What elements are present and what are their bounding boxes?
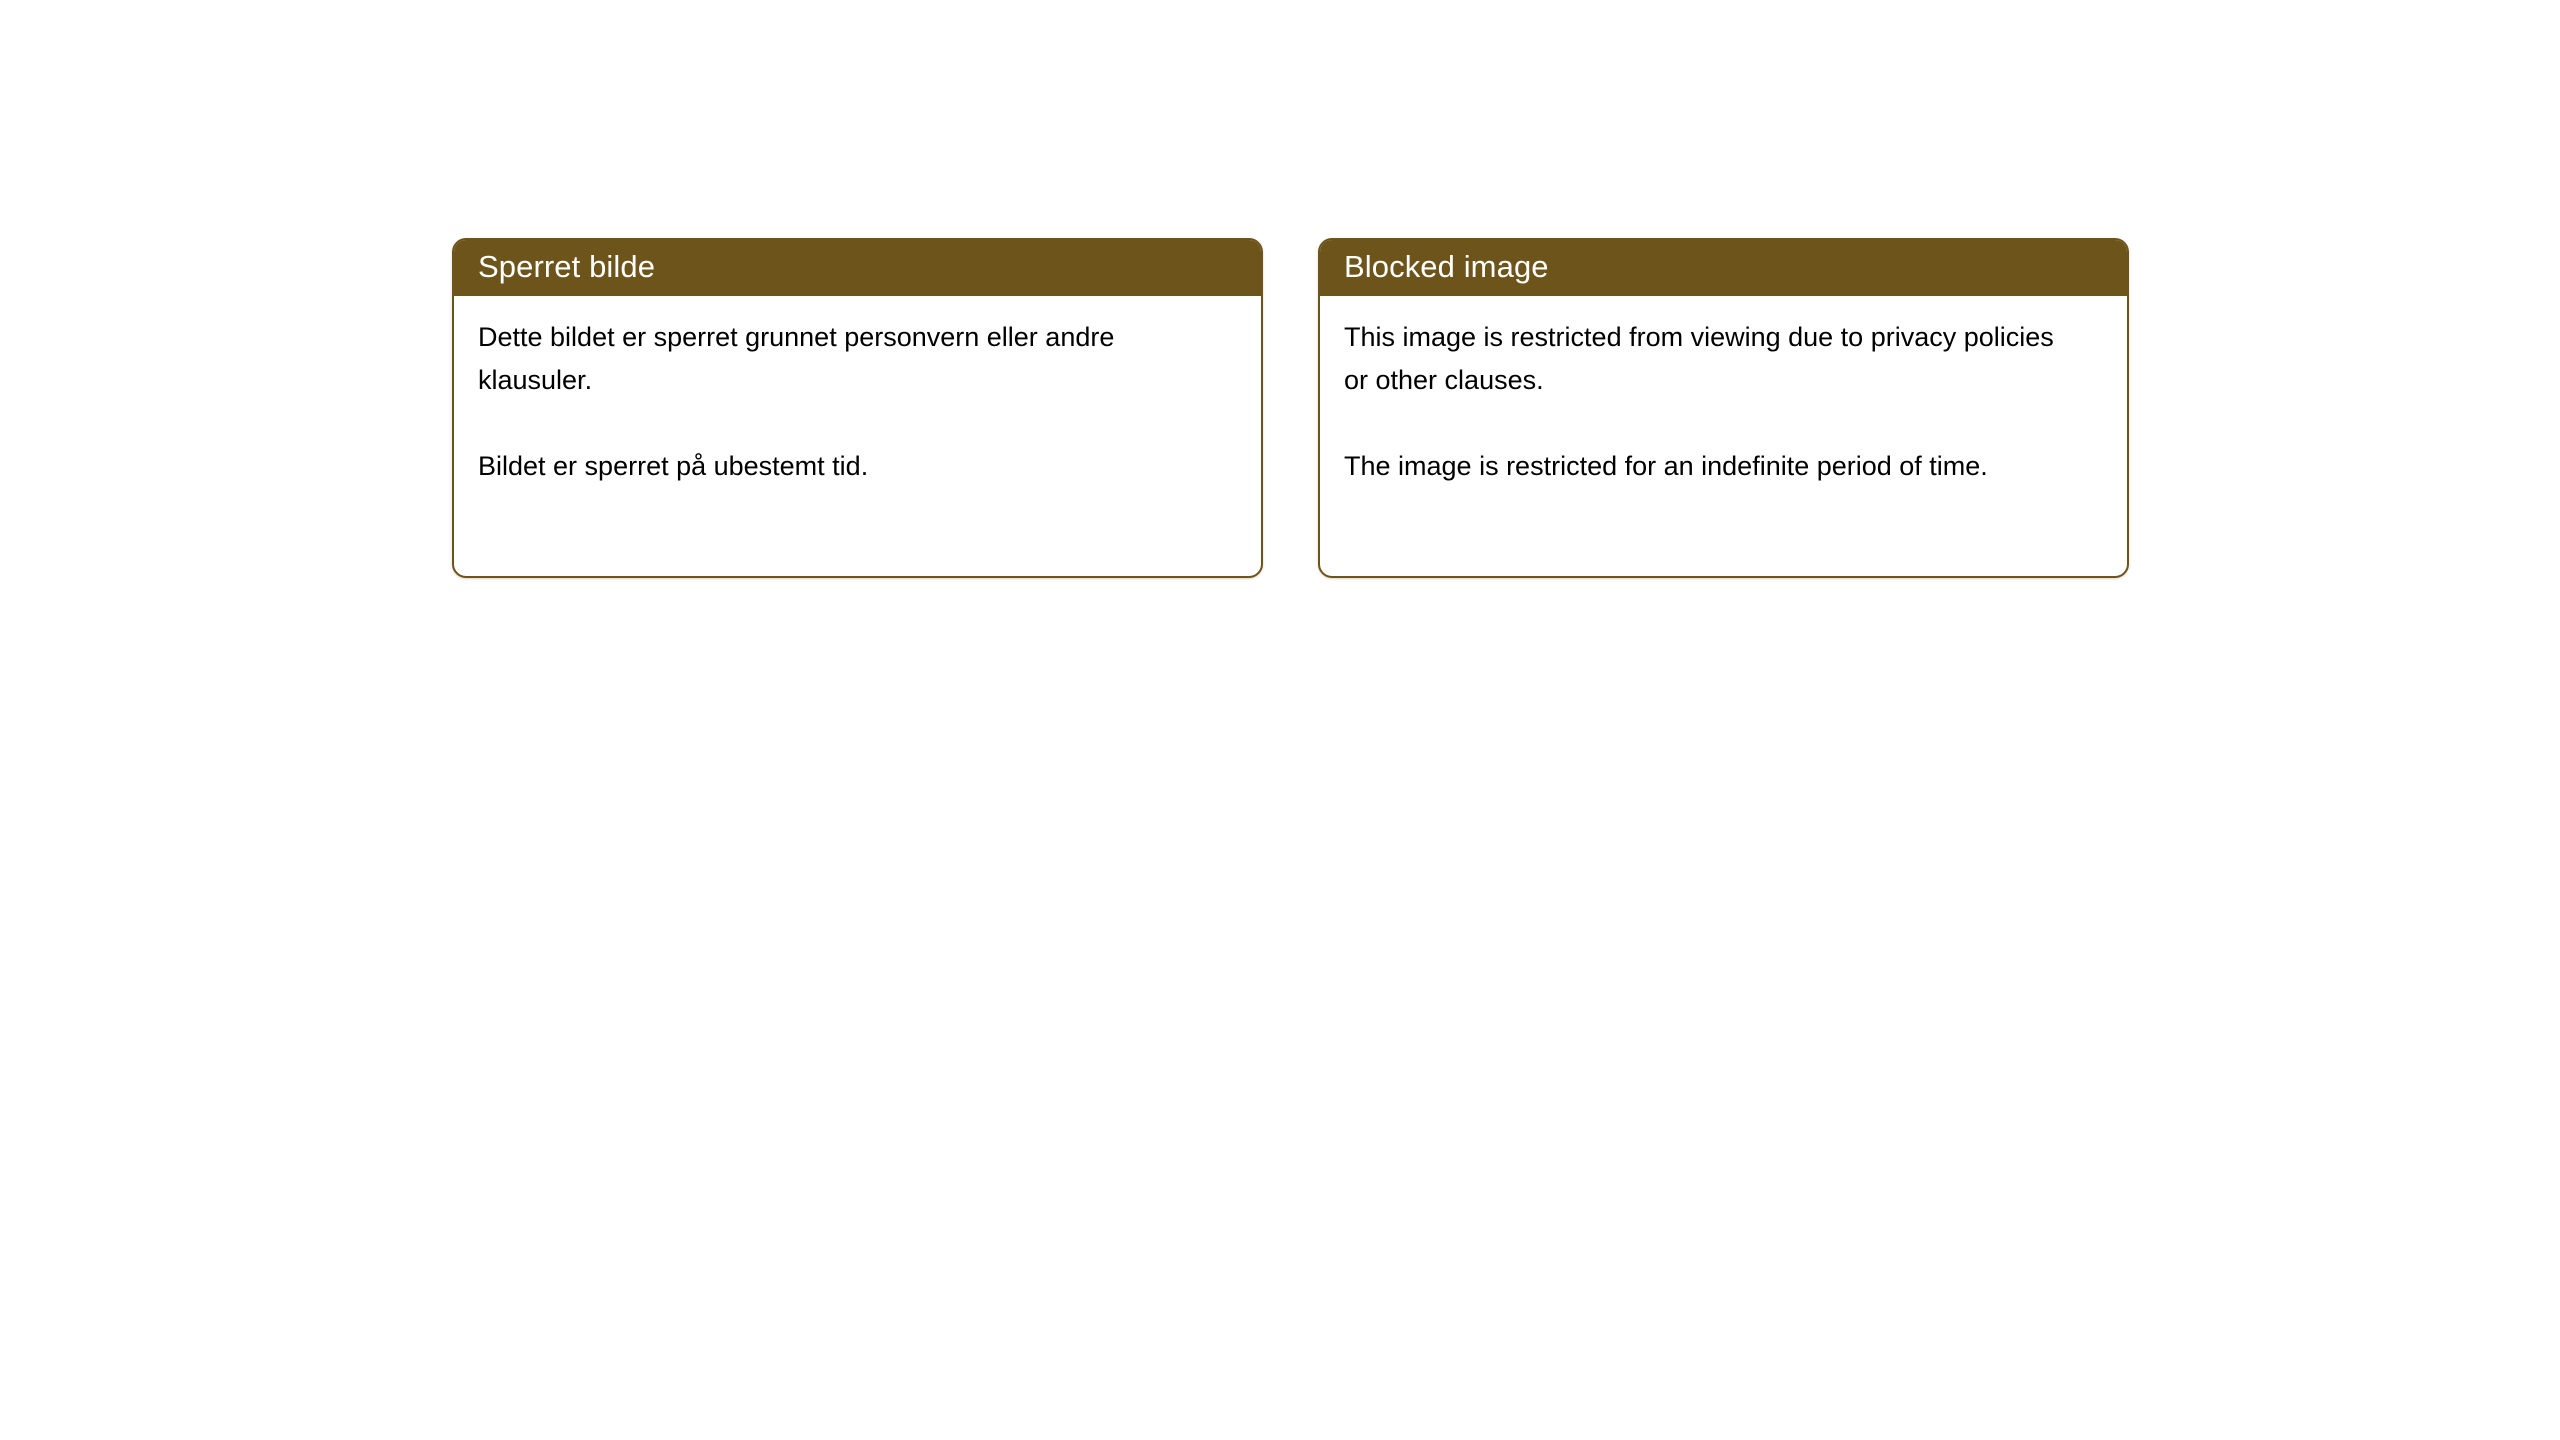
card-body-english: This image is restricted from viewing du… — [1320, 296, 2127, 576]
card-header-english: Blocked image — [1320, 240, 2127, 296]
card-title-english: Blocked image — [1344, 248, 1549, 286]
card-header-norwegian: Sperret bilde — [454, 240, 1261, 296]
card-body-norwegian: Dette bildet er sperret grunnet personve… — [454, 296, 1261, 576]
blocked-image-notices: Sperret bilde Dette bildet er sperret gr… — [452, 238, 2129, 578]
card-paragraph-primary-norwegian: Dette bildet er sperret grunnet personve… — [478, 316, 1218, 402]
page-root: Sperret bilde Dette bildet er sperret gr… — [0, 0, 2560, 1440]
blocked-image-card-english: Blocked image This image is restricted f… — [1318, 238, 2129, 578]
paragraph-spacer — [1344, 402, 2103, 445]
card-paragraph-secondary-norwegian: Bildet er sperret på ubestemt tid. — [478, 445, 1218, 488]
card-title-norwegian: Sperret bilde — [478, 248, 655, 286]
paragraph-spacer — [478, 402, 1237, 445]
card-paragraph-secondary-english: The image is restricted for an indefinit… — [1344, 445, 2084, 488]
card-paragraph-primary-english: This image is restricted from viewing du… — [1344, 316, 2084, 402]
blocked-image-card-norwegian: Sperret bilde Dette bildet er sperret gr… — [452, 238, 1263, 578]
